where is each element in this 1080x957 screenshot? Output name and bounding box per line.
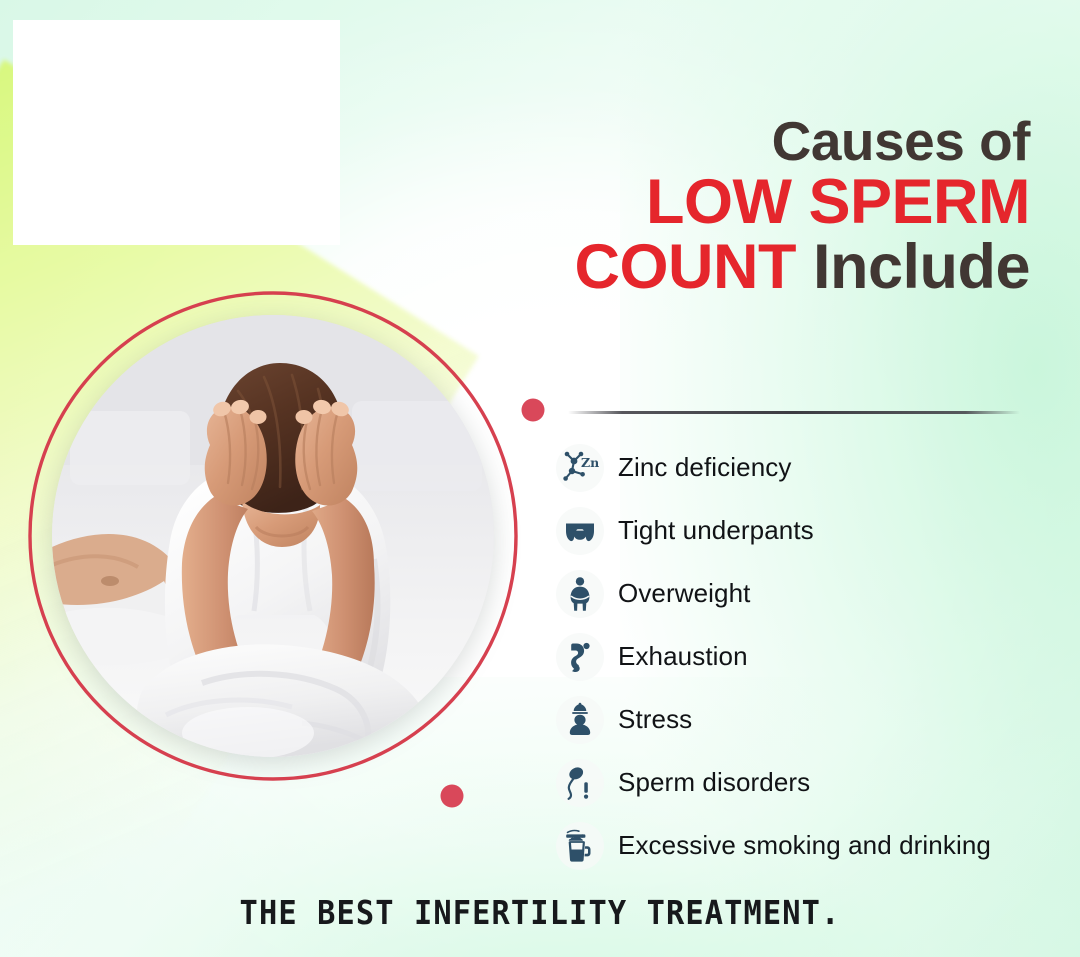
sperm-alert-icon [556, 759, 604, 807]
headline-line-2: LOW SPERM [470, 172, 1030, 233]
list-item-label: Overweight [618, 578, 751, 609]
cigarette-beer-icon [556, 822, 604, 870]
svg-text:Zn: Zn [581, 455, 599, 470]
heading-divider [568, 411, 1020, 414]
causes-list: Zn Zinc deficiency Tight underpants [556, 436, 1076, 877]
headline-line-3: COUNT Include [470, 237, 1030, 298]
list-item-label: Exhaustion [618, 641, 748, 672]
list-item: Exhaustion [556, 625, 1076, 688]
underpants-icon [556, 507, 604, 555]
headline-line-3-dark: Include [813, 232, 1030, 302]
ring-dot-top [522, 399, 545, 422]
list-item-label: Excessive smoking and drinking [618, 830, 991, 861]
page-title: Causes of LOW SPERM COUNT Include [470, 115, 1030, 299]
stressed-person-icon [556, 696, 604, 744]
list-item-label: Zinc deficiency [618, 452, 791, 483]
exhausted-person-icon [556, 633, 604, 681]
overweight-person-icon [556, 570, 604, 618]
top-left-white-panel [13, 20, 340, 245]
zinc-molecule-icon: Zn [556, 444, 604, 492]
list-item-label: Sperm disorders [618, 767, 810, 798]
tagline: THE BEST INFERTILITY TREATMENT. [43, 893, 1037, 932]
list-item-label: Stress [618, 704, 692, 735]
list-item-label: Tight underpants [618, 515, 814, 546]
decorative-ring [14, 288, 534, 848]
list-item: Sperm disorders [556, 751, 1076, 814]
list-item: Stress [556, 688, 1076, 751]
ring-dot-bottom [441, 785, 464, 808]
list-item: Overweight [556, 562, 1076, 625]
list-item: Zn Zinc deficiency [556, 436, 1076, 499]
infographic-poster: Causes of LOW SPERM COUNT Include [0, 0, 1080, 957]
list-item: Excessive smoking and drinking [556, 814, 1076, 877]
list-item: Tight underpants [556, 499, 1076, 562]
headline-line-3-red: COUNT [574, 232, 795, 302]
photo-with-ring [14, 288, 534, 848]
headline-line-1: Causes of [470, 115, 1030, 168]
